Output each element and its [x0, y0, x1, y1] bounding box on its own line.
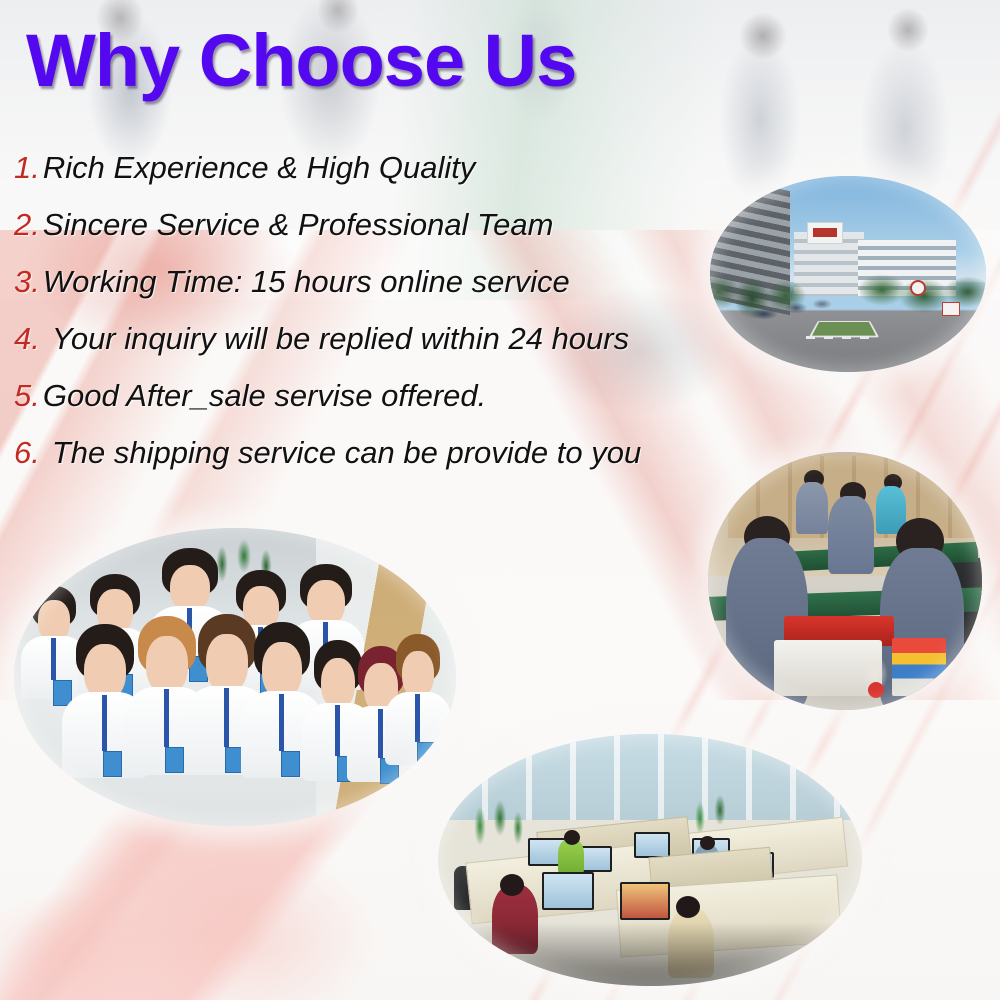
list-item: 1. Rich Experience & High Quality — [14, 150, 774, 207]
list-item-label: Sincere Service & Professional Team — [43, 207, 554, 243]
list-item-number: 6. — [14, 435, 40, 471]
id-badge — [165, 747, 184, 773]
face — [321, 658, 356, 710]
right-hedge — [860, 270, 986, 332]
list-item-label: Your inquiry will be replied within 24 h… — [43, 321, 629, 357]
monitor — [542, 872, 594, 910]
lanyard — [224, 688, 229, 747]
team-scene — [14, 528, 456, 826]
id-badge — [417, 742, 436, 768]
why-choose-us-poster: Why Choose Us 1. Rich Experience & High … — [0, 0, 1000, 1000]
office-scene — [438, 734, 862, 986]
list-item-label: The shipping service can be provide to y… — [43, 435, 641, 471]
worker-body — [828, 496, 874, 574]
parked-cars — [746, 296, 842, 324]
employee-head — [500, 874, 524, 896]
benefits-list: 1. Rich Experience & High Quality 2. Sin… — [14, 150, 774, 492]
list-item-label: Rich Experience & High Quality — [43, 150, 475, 186]
monitor — [620, 882, 670, 920]
face — [84, 644, 126, 700]
production-scene — [708, 452, 982, 710]
colorful-package — [892, 638, 946, 696]
lanyard — [102, 695, 107, 751]
roadside-signpost — [942, 302, 960, 316]
building-sign — [807, 222, 843, 244]
lanyard — [378, 709, 383, 759]
list-item: 6. The shipping service can be provide t… — [14, 435, 774, 492]
employee-head — [700, 836, 715, 850]
red-knob — [868, 682, 884, 698]
building-scene — [710, 176, 986, 372]
team-group-photo — [14, 528, 456, 826]
list-item-number: 2. — [14, 207, 40, 243]
road-island — [809, 321, 879, 337]
list-item: 2. Sincere Service & Professional Team — [14, 207, 774, 264]
employee-head — [676, 896, 700, 918]
lanyard — [51, 638, 56, 679]
foreground-shadow — [438, 922, 862, 986]
list-item-label: Working Time: 15 hours online service — [43, 264, 570, 300]
list-item-number: 5. — [14, 378, 40, 414]
list-item: 3. Working Time: 15 hours online service — [14, 264, 774, 321]
face — [262, 642, 302, 699]
page-title: Why Choose Us — [26, 18, 576, 103]
list-item-number: 4. — [14, 321, 40, 357]
list-item: 4. Your inquiry will be replied within 2… — [14, 321, 774, 378]
staff-member — [396, 634, 440, 738]
staff-member — [32, 586, 76, 676]
id-badge — [103, 751, 122, 777]
no-stopping-sign — [910, 280, 926, 296]
employee-head — [564, 830, 580, 845]
list-item-label: Good After_sale servise offered. — [43, 378, 486, 414]
face — [206, 634, 248, 693]
list-item: 5. Good After_sale servise offered. — [14, 378, 774, 435]
list-item-number: 3. — [14, 264, 40, 300]
list-item-number: 1. — [14, 150, 40, 186]
lanyard — [164, 689, 169, 747]
lane-marking — [806, 336, 876, 339]
lanyard — [279, 694, 284, 751]
lanyard — [415, 694, 420, 742]
worker-body — [796, 482, 828, 534]
factory-building-photo — [710, 176, 986, 372]
office-workstations-photo — [438, 734, 862, 986]
id-badge — [281, 751, 300, 777]
face — [146, 636, 188, 694]
monitor — [634, 832, 670, 858]
production-line-photo — [708, 452, 982, 710]
lanyard — [335, 705, 340, 757]
